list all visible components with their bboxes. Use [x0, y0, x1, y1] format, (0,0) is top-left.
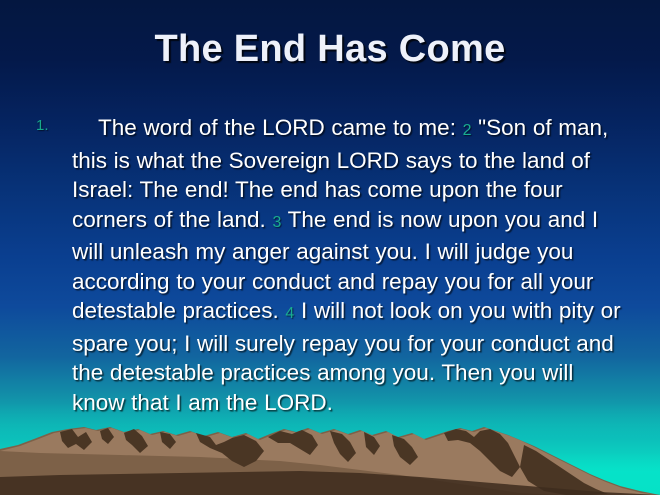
verse-number: 4 — [285, 305, 294, 322]
verse-number: 3 — [272, 214, 281, 231]
mountain-range-graphic — [0, 415, 660, 495]
slide-title: The End Has Come — [0, 28, 660, 71]
list-item-marker: 1. — [36, 117, 49, 134]
scripture-paragraph: The word of the LORD came to me: 2 "Son … — [72, 113, 632, 417]
list-item: 1. The word of the LORD came to me: 2 "S… — [32, 113, 632, 417]
verse-number: 2 — [463, 122, 472, 139]
presentation-slide: The End Has Come 1. The word of the LORD… — [0, 0, 660, 495]
slide-body: 1. The word of the LORD came to me: 2 "S… — [32, 113, 632, 417]
